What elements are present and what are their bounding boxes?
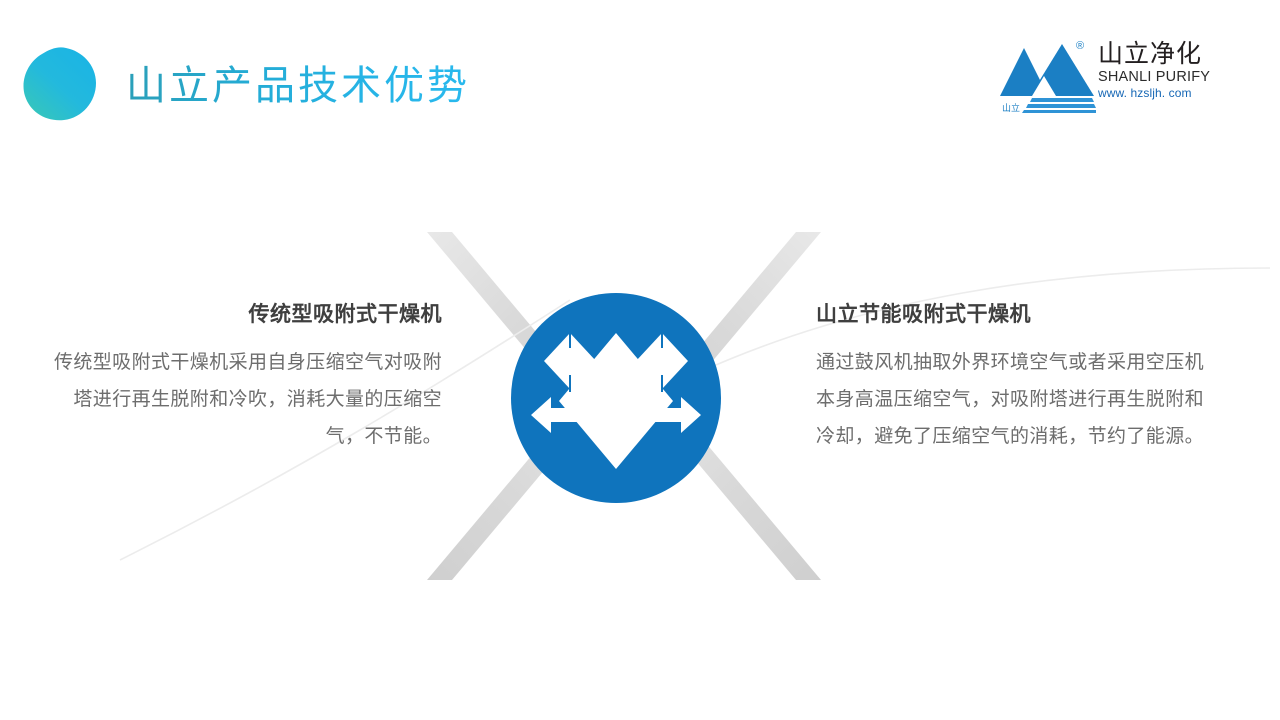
logo-company-en: SHANLI PURIFY <box>1098 69 1224 86</box>
slide-root: 山立产品技术优势 ® 山立 山立净化 SHANLI PURIFY www. hz… <box>0 0 1280 720</box>
company-logo: ® 山立 山立净化 SHANLI PURIFY www. hzsljh. com <box>1000 38 1222 116</box>
page-title: 山立产品技术优势 <box>126 61 470 111</box>
registered-mark: ® <box>1076 40 1084 52</box>
slide-header: 山立产品技术优势 ® 山立 山立净化 SHANLI PURIFY www. hz… <box>0 0 1280 150</box>
column-traditional-heading: 传统型吸附式干燥机 <box>52 300 442 330</box>
logo-mark-label: 山立 <box>1002 101 1020 114</box>
logo-company-cn: 山立净化 <box>1098 41 1224 69</box>
column-shanli-body: 通过鼓风机抽取外界环境空气或者采用空压机本身高温压缩空气，对吸附塔进行再生脱附和… <box>816 344 1206 455</box>
logo-website: www. hzsljh. com <box>1098 86 1224 101</box>
logo-text-block: 山立净化 SHANLI PURIFY www. hzsljh. com <box>1098 41 1224 101</box>
blob-shape-icon <box>22 46 98 122</box>
center-badge <box>511 293 721 503</box>
column-traditional-body: 传统型吸附式干燥机采用自身压缩空气对吸附塔进行再生脱附和冷吹，消耗大量的压缩空气… <box>52 344 442 455</box>
column-shanli-heading: 山立节能吸附式干燥机 <box>816 300 1206 330</box>
column-shanli: 山立节能吸附式干燥机 通过鼓风机抽取外界环境空气或者采用空压机本身高温压缩空气，… <box>816 300 1206 455</box>
column-traditional: 传统型吸附式干燥机 传统型吸附式干燥机采用自身压缩空气对吸附塔进行再生脱附和冷吹… <box>52 300 442 455</box>
